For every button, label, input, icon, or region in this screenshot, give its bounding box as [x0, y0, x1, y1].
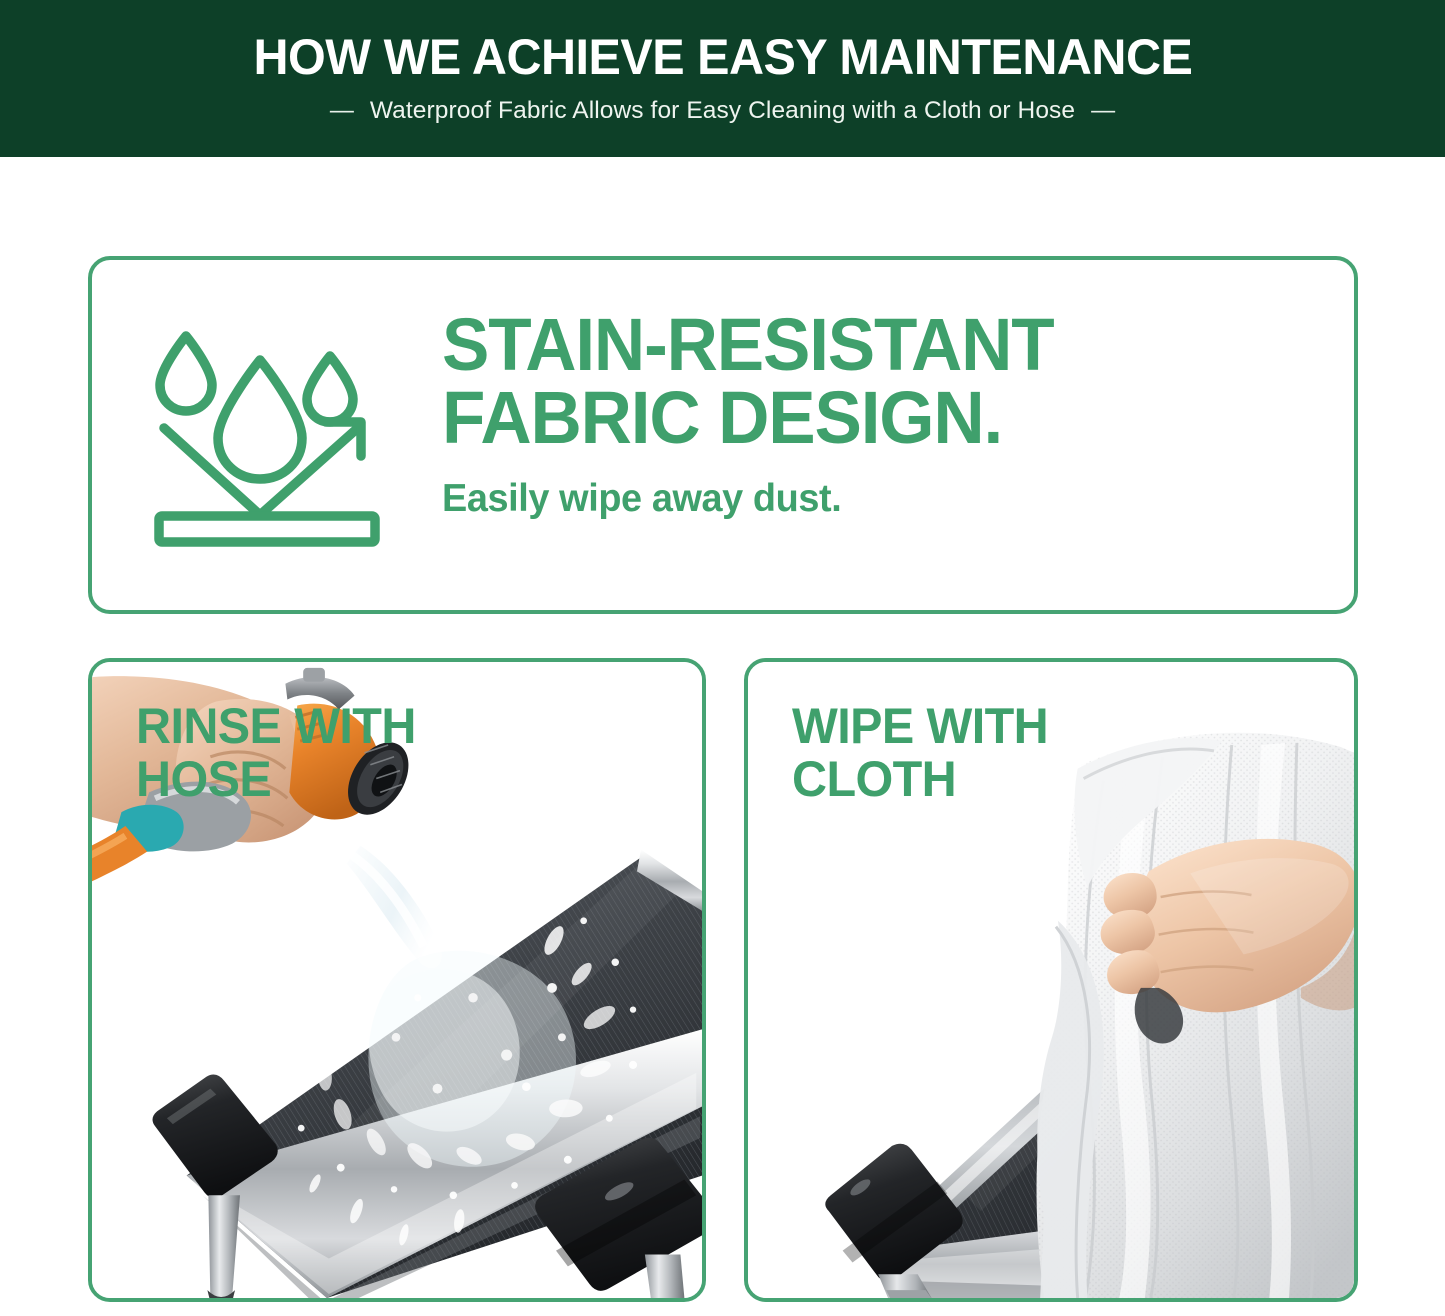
rinse-with-hose-heading: RINSE WITH HOSE [136, 700, 416, 805]
page-subtitle: Waterproof Fabric Allows for Easy Cleani… [370, 97, 1075, 125]
wipe-heading-line1: WIPE WITH [792, 700, 1048, 753]
card-wipe-with-cloth: WIPE WITH CLOTH [744, 658, 1358, 1302]
stain-resistant-text-block: STAIN-RESISTANT FABRIC DESIGN. Easily wi… [442, 308, 1322, 521]
header-banner: HOW WE ACHIEVE EASY MAINTENANCE — Waterp… [0, 0, 1445, 157]
infographic-page: HOW WE ACHIEVE EASY MAINTENANCE — Waterp… [0, 0, 1445, 1316]
stain-resistant-subheading: Easily wipe away dust. [442, 477, 1296, 521]
wipe-heading-line2: CLOTH [792, 753, 1048, 806]
stain-resistant-heading-line1: STAIN-RESISTANT [442, 308, 1287, 381]
water-repellent-icon [150, 322, 395, 550]
subtitle-row: — Waterproof Fabric Allows for Easy Clea… [330, 97, 1115, 125]
hand-with-cloth [1037, 733, 1354, 1298]
rinse-heading-line2: HOSE [136, 753, 416, 806]
rinse-heading-line1: RINSE WITH [136, 700, 416, 753]
card-stain-resistant: STAIN-RESISTANT FABRIC DESIGN. Easily wi… [88, 256, 1358, 614]
card-rinse-with-hose: RINSE WITH HOSE [88, 658, 706, 1302]
dash-left-icon: — [330, 99, 354, 123]
page-title: HOW WE ACHIEVE EASY MAINTENANCE [253, 32, 1192, 83]
wipe-with-cloth-heading: WIPE WITH CLOTH [792, 700, 1048, 805]
dash-right-icon: — [1091, 99, 1115, 123]
stain-resistant-heading-line2: FABRIC DESIGN. [442, 381, 1287, 454]
